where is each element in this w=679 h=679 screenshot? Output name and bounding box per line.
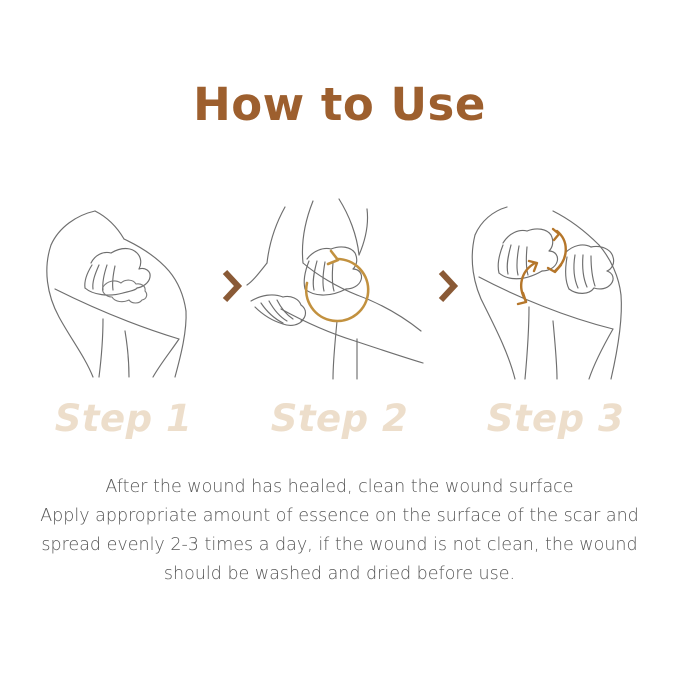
how-to-use-page: How to Use	[0, 0, 679, 679]
instruction-line-1: After the wound has healed, clean the wo…	[0, 473, 679, 502]
steps-illustration-row	[0, 188, 679, 383]
chevron-right-icon-2	[431, 264, 465, 308]
step-1-label: Step 1	[29, 400, 219, 437]
instructions-paragraph: After the wound has healed, clean the wo…	[0, 473, 679, 589]
instruction-line-4: should be washed and dried before use.	[0, 560, 679, 589]
page-title: How to Use	[0, 82, 679, 127]
instruction-line-3: spread evenly 2-3 times a day, if the wo…	[0, 531, 679, 560]
step-labels-row: Step 1 Step 2 Step 3	[0, 392, 679, 444]
instruction-line-2: Apply appropriate amount of essence on t…	[0, 502, 679, 531]
chevron-right-icon-1	[215, 264, 249, 308]
step-3-illustration	[461, 191, 651, 381]
step-2-illustration	[245, 191, 435, 381]
step-1-illustration	[29, 191, 219, 381]
step-2-label: Step 2	[245, 400, 435, 437]
step-3-label: Step 3	[461, 400, 651, 437]
